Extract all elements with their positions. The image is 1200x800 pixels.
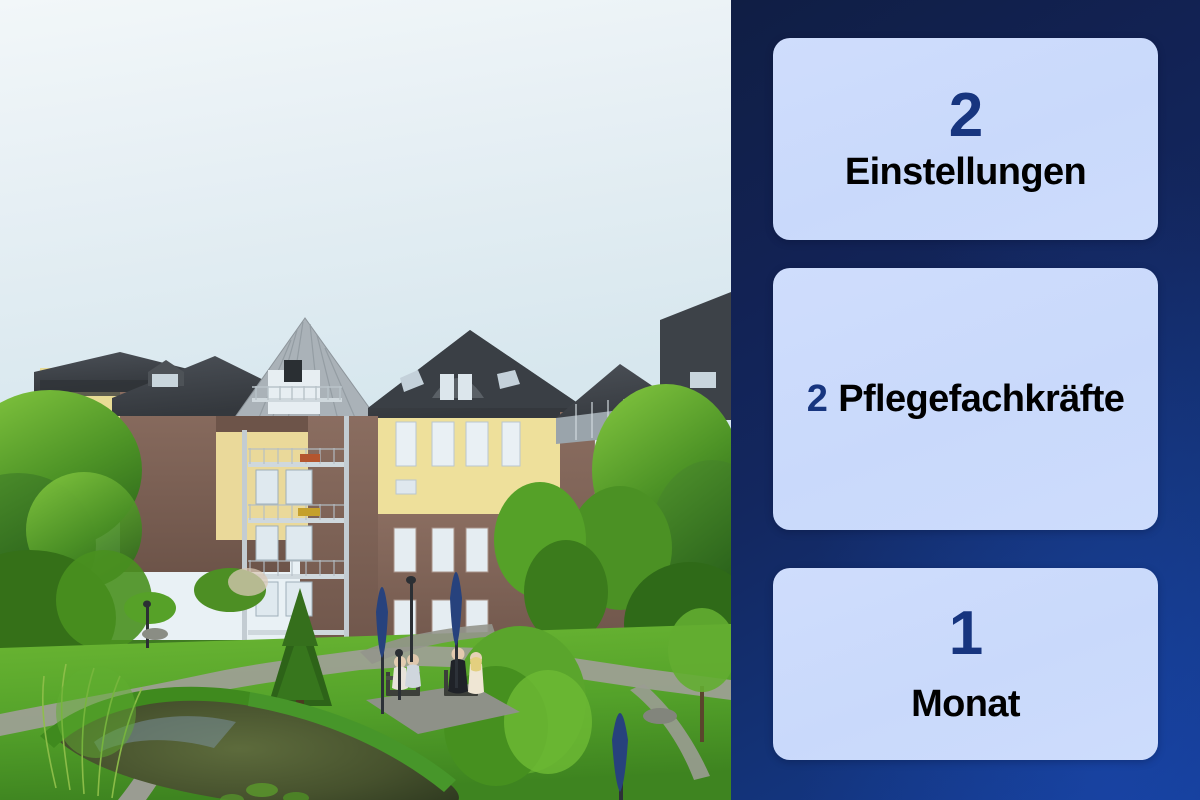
stat-number-monat: 1 — [949, 602, 982, 665]
stat-number-pflegefachkraefte: 2 — [807, 380, 828, 419]
stat-number-einstellungen: 2 — [949, 84, 982, 147]
stat-label-einstellungen: Einstellungen — [845, 151, 1086, 194]
stats-panel: 2 Einstellungen 2 Pflegefachkräfte 1 Mon… — [731, 0, 1200, 800]
stat-card-einstellungen: 2 Einstellungen — [773, 38, 1158, 240]
stat-inline-row: 2 Pflegefachkräfte — [807, 378, 1125, 421]
stat-card-monat: 1 Monat — [773, 568, 1158, 760]
stat-card-pflegefachkraefte: 2 Pflegefachkräfte — [773, 268, 1158, 531]
care-home-illustration — [0, 0, 731, 800]
promo-graphic: 2 Einstellungen 2 Pflegefachkräfte 1 Mon… — [0, 0, 1200, 800]
stat-label-pflegefachkraefte: Pflegefachkräfte — [838, 378, 1124, 421]
stat-label-monat: Monat — [911, 683, 1020, 726]
care-home-photo — [0, 0, 731, 800]
tree-left — [0, 390, 152, 686]
